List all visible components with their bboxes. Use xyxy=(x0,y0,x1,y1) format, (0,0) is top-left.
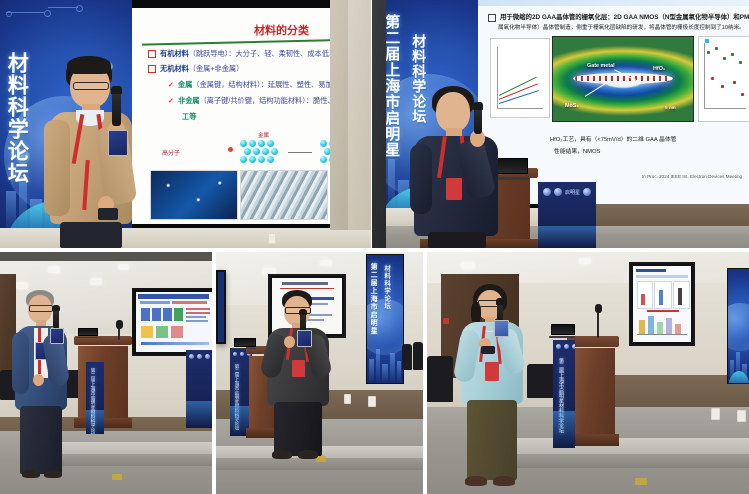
podium-banner-text: 第二届上海市启明星材料科学论坛 xyxy=(90,368,96,434)
speaker-person xyxy=(408,86,510,248)
flow-box xyxy=(141,326,153,338)
slide-footer-left2: 性能结果，NMOS xyxy=(554,146,600,155)
laptop xyxy=(234,338,254,349)
podium-logo-bar xyxy=(556,344,575,349)
flow-text xyxy=(186,312,210,314)
logo-icon xyxy=(564,344,569,349)
chart-bar xyxy=(639,320,645,334)
glasses xyxy=(29,305,53,312)
chart-bar xyxy=(657,322,663,334)
slide-bullet: ✓金属（金属键，结构材料）：延展性、塑性、易加工 xyxy=(168,80,340,90)
photo-bottom-middle: 第二届上海市启明星 材料科学论坛 第二届上海市启明星材料科学论坛 xyxy=(216,252,423,494)
podium-banner-panel: 第二届上海市启明星材料科学论坛 xyxy=(86,362,104,434)
led-wall-edge xyxy=(216,270,226,344)
legs-trousers xyxy=(20,406,62,474)
chair xyxy=(413,342,423,370)
chart-bar xyxy=(641,294,645,305)
microphone xyxy=(112,90,121,126)
flow-box xyxy=(171,326,183,338)
microphone-gooseneck xyxy=(597,310,599,338)
microphone xyxy=(53,308,59,330)
microphone-head xyxy=(111,86,122,94)
banner-vertical-text: 材料科学论坛 xyxy=(6,52,27,184)
slide-bullet: 有机材料（跳跃导电）：大分子、轻、柔韧性、成本低、... xyxy=(148,49,342,59)
tem-pointer-line xyxy=(585,82,608,97)
collage-gap-vertical-1 xyxy=(212,252,216,494)
microphone xyxy=(474,106,482,134)
flow-text xyxy=(186,308,210,310)
photo-collage: 材料科学论坛 材料的分类 有机材料（跳跃导电）：大分子、轻、柔韧性、成本低、..… xyxy=(0,0,749,494)
ceiling-light xyxy=(320,260,332,266)
name-badge xyxy=(446,178,462,200)
laptop-base xyxy=(77,337,98,338)
slide-footer-citation: In Proc. 2024 IEEE Int. Electron Devices… xyxy=(642,174,742,179)
slide-image-layered xyxy=(240,170,328,220)
chart-bar xyxy=(648,316,654,334)
slide-heading-rule xyxy=(280,288,334,289)
microphone-head xyxy=(299,309,307,315)
led-wall-right: 第二届上海市启明星 材料科学论坛 xyxy=(366,254,404,384)
ceiling-light xyxy=(90,278,102,285)
wall-column xyxy=(372,0,386,248)
slide-header xyxy=(138,294,209,299)
logo-icon xyxy=(233,352,237,356)
wall-display xyxy=(132,288,212,356)
banner-title-line2: 材料科学论坛 xyxy=(382,265,389,310)
slide-band xyxy=(636,275,688,278)
laptop-screen xyxy=(78,328,98,336)
chart-bar xyxy=(659,290,663,305)
laptop-base xyxy=(549,336,575,338)
check-bullet-icon: ✓ xyxy=(168,80,174,89)
laptop xyxy=(78,328,96,338)
flow-box xyxy=(174,308,183,321)
wall-socket xyxy=(737,410,746,422)
flow-box xyxy=(163,308,172,321)
microphone-flag-badge xyxy=(297,330,312,347)
chart-bar xyxy=(666,318,672,334)
podium-logo-bar: 启明星 xyxy=(543,188,591,196)
logo-icon xyxy=(554,188,562,196)
legs-trousers xyxy=(274,402,322,456)
chart-cell xyxy=(654,281,672,309)
chart-bar xyxy=(675,324,681,334)
wall-socket xyxy=(344,394,351,404)
shoe xyxy=(44,470,62,478)
ceiling-light xyxy=(16,282,28,289)
legs-trousers xyxy=(467,400,517,480)
logo-icon xyxy=(572,344,575,349)
slide-label-polymer: 高分子 xyxy=(162,148,180,157)
slide-title-rule xyxy=(636,269,666,272)
logo-icon xyxy=(240,352,244,356)
flow-box xyxy=(152,308,161,321)
slide-body-line1: 用于微缩的2D GAA晶体管的栅氧化层：2D GAA NMOS（N型金属氧化物半… xyxy=(500,12,749,21)
wall-wainscot xyxy=(582,204,749,228)
display-slide xyxy=(136,292,212,352)
photo-top-left: 材料科学论坛 材料的分类 有机材料（跳跃导电）：大分子、轻、柔韧性、成本低、..… xyxy=(0,0,371,248)
logo-icon xyxy=(205,354,210,359)
flow-text xyxy=(186,316,206,318)
wall-socket xyxy=(711,408,720,420)
floor-marker xyxy=(635,478,647,485)
shoe xyxy=(272,450,292,459)
photo-bottom-left: 第二届上海市启明星材料科学论坛 xyxy=(0,252,212,494)
display-slide xyxy=(633,266,691,342)
banner-title-line1: 第二届上海市启明星 xyxy=(370,263,377,335)
logo-icon xyxy=(197,354,202,359)
plot-legend-chip xyxy=(705,39,709,43)
arm-left xyxy=(12,332,29,394)
shoe xyxy=(465,476,487,486)
square-bullet-icon xyxy=(488,14,496,22)
slide-heading-text xyxy=(282,282,328,285)
city-skyline xyxy=(367,334,403,383)
check-bullet-icon: ✓ xyxy=(168,96,174,105)
stage-front-face xyxy=(54,454,212,466)
podium-logo-bar xyxy=(189,354,210,359)
wall-socket xyxy=(368,396,376,407)
event-banner: 第二届上海市启明星 材料科学论坛 xyxy=(367,255,403,383)
podium-skyline xyxy=(186,401,212,428)
seating-area xyxy=(402,338,423,386)
slide-bullet: 无机材料（金属+非金属） xyxy=(148,64,243,74)
slide-title: 材料的分类 xyxy=(254,22,309,38)
floor-marker xyxy=(112,474,122,480)
chart-axis xyxy=(637,334,687,335)
tem-scalebar-label: 5 nm xyxy=(665,105,676,110)
speaker-person xyxy=(264,290,336,460)
microphone-head xyxy=(473,102,483,110)
chart-caption xyxy=(647,310,679,312)
wall-socket xyxy=(268,233,276,244)
microphone-head xyxy=(52,305,60,311)
speaker-person xyxy=(457,284,539,492)
laptop-base xyxy=(232,348,255,349)
microphone-head xyxy=(116,320,123,329)
photo-top-right: 第二届上海市启明星 材料科学论坛 Intel: Accelerating GAA… xyxy=(372,0,749,248)
glasses xyxy=(285,307,311,314)
speaker-person xyxy=(42,56,152,248)
microphone-head xyxy=(496,298,504,305)
slide-subheader xyxy=(172,301,207,304)
chart-cell xyxy=(637,281,653,309)
logo-icon xyxy=(583,188,591,196)
legs xyxy=(60,222,122,248)
flow-box xyxy=(141,308,150,321)
head xyxy=(436,92,470,132)
slide-footer-left: HfO₂工艺，具有（<75mV/d）的二维 GAA 晶体管 xyxy=(550,134,676,143)
exit-sign xyxy=(443,318,449,324)
logo-icon xyxy=(543,188,551,196)
slide-tem-micrograph: Gate metal HfO₂ MoS₂ 5 nm xyxy=(552,36,694,122)
microphone-flag-badge xyxy=(108,130,128,156)
side-podium-panel xyxy=(186,350,212,428)
banner-title-line1: 第二届上海市启明星 xyxy=(384,14,399,158)
logo-icon xyxy=(189,354,194,359)
slide-body-line2: 属氧化物半导体）晶体管制造，侧重于栅氧化层缺陷的研发，将晶体管的栅极长度控制到了… xyxy=(498,23,745,31)
ceiling-light xyxy=(579,258,591,264)
event-banner xyxy=(728,269,749,383)
microphone-flag-badge xyxy=(494,320,509,337)
legs xyxy=(428,232,486,248)
slide-bullet: 工等 xyxy=(182,112,196,122)
presenter-clicker xyxy=(98,208,118,220)
microphone-flag-badge xyxy=(50,328,64,344)
podium-skyline xyxy=(538,226,596,248)
shoe xyxy=(298,450,318,459)
slide-subheader xyxy=(140,301,170,304)
tem-label-gate-metal: Gate metal xyxy=(587,63,615,69)
presenter-clicker xyxy=(481,346,495,354)
name-badge xyxy=(485,362,499,381)
arm-left xyxy=(44,120,70,216)
chair xyxy=(427,356,453,402)
name-badge xyxy=(292,360,305,377)
tem-label-hfo2: HfO₂ xyxy=(653,66,665,72)
hair-top xyxy=(67,56,111,74)
laptop-screen xyxy=(234,338,256,347)
arm-left xyxy=(410,144,432,214)
arrow-icon xyxy=(288,152,312,153)
chart-bar xyxy=(678,288,682,305)
wall-column xyxy=(330,0,348,230)
slide-image-polymer xyxy=(150,170,238,220)
podium-banner-panel: 启明星 xyxy=(538,182,596,248)
ceiling-beam xyxy=(0,252,212,261)
shoe xyxy=(493,476,515,486)
hand-steadying xyxy=(284,336,295,348)
flow-box xyxy=(156,326,168,338)
hand-holding-clicker xyxy=(33,374,44,386)
photo-bottom-right: 第二届上海市启明星材料科学论坛 xyxy=(427,252,749,494)
ceiling-light xyxy=(461,262,475,269)
tem-atom-row xyxy=(575,76,670,81)
logo-text: 启明星 xyxy=(565,189,580,196)
microphone-head xyxy=(595,304,602,313)
podium-skyline xyxy=(553,411,575,448)
led-wall-right xyxy=(727,268,749,384)
collage-gap-vertical-2 xyxy=(423,252,427,494)
slide-bullet: ✓非金属（离子键/共价键，结构功能材料）：脆性、塑性 xyxy=(168,96,349,106)
tem-label-mos2: MoS₂ xyxy=(565,103,579,109)
flow-text xyxy=(186,320,208,322)
podium-banner-panel: 第二届上海市启明星材料科学论坛 xyxy=(553,340,575,448)
laptop xyxy=(551,324,573,338)
wall-display xyxy=(629,262,695,346)
ceiling-light xyxy=(48,266,60,273)
shoe xyxy=(22,470,40,478)
logo-icon xyxy=(556,344,561,349)
circuit-decor xyxy=(4,4,114,30)
atom-lattice-metal xyxy=(238,138,284,168)
single-atom xyxy=(228,147,233,152)
ceiling-light xyxy=(118,264,129,270)
collage-gap-horizontal xyxy=(0,248,749,252)
flow-arrow xyxy=(141,342,209,345)
podium-body xyxy=(571,348,616,434)
glasses xyxy=(73,82,109,90)
laptop-screen xyxy=(551,324,575,335)
wall-column xyxy=(348,0,371,230)
chair xyxy=(402,344,412,370)
slide-plot-benchmark xyxy=(698,36,749,122)
speaker-person xyxy=(12,290,74,478)
